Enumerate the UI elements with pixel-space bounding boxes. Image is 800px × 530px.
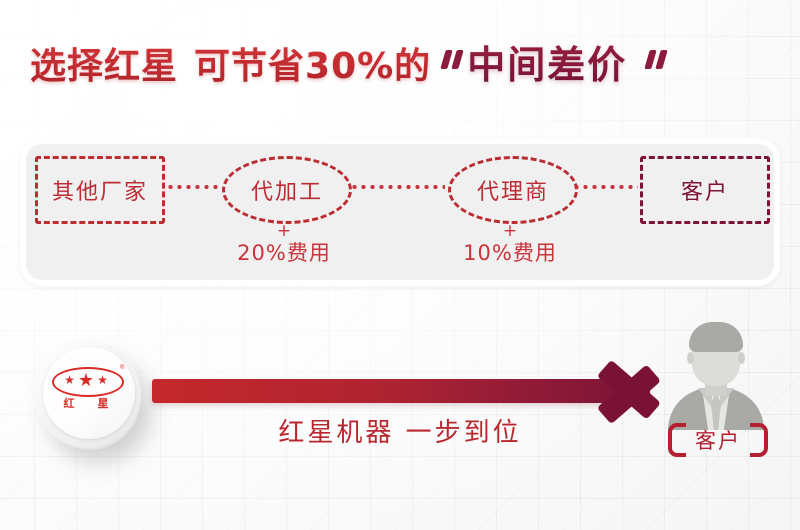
fee-plus-sign: + [214, 222, 354, 241]
poster-canvas: 选择红星 可节省30%的 中间差价 其他厂家 代加工 代理商 客户 + 20%费… [0, 0, 800, 530]
fee-markup-agent: + 10%费用 [440, 222, 580, 266]
logo-wordmark: 红 星 [52, 395, 120, 411]
headline-part2: 可节省30%的 [194, 37, 431, 89]
flow-node-label: 代理商 [477, 174, 549, 206]
star-icon: ★ [78, 371, 94, 389]
flow-node-label: 客户 [681, 174, 729, 206]
customer-badge-label: 客户 [695, 425, 741, 455]
avatar-ear-right [738, 352, 745, 364]
flow-node-other-factory: 其他厂家 [35, 156, 165, 224]
logo-word-hong: 红 [64, 395, 75, 411]
customer-avatar [662, 318, 770, 426]
flow-node-customer: 客户 [640, 156, 770, 224]
flow-node-label: 其他厂家 [52, 174, 148, 206]
bracket-right-icon [750, 423, 768, 457]
hongxing-logo: ★ ★ ★ ® 红 星 [33, 340, 145, 452]
star-icon: ★ [64, 374, 75, 386]
supply-chain-panel: 其他厂家 代加工 代理商 客户 + 20%费用 + 10%费用 [20, 138, 780, 286]
flow-connector-3 [572, 185, 638, 189]
fee-markup-oem: + 20%费用 [214, 222, 354, 266]
fee-amount: 20%费用 [214, 242, 354, 266]
logo-word-xing: 星 [98, 395, 109, 411]
logo-face: ★ ★ ★ ® 红 星 [43, 347, 135, 439]
fee-plus-sign: + [440, 222, 580, 241]
headline-highlight: 中间差价 [467, 34, 627, 89]
flow-node-agent: 代理商 [448, 156, 578, 224]
logo-stars-icon: ★ ★ ★ [52, 369, 120, 391]
registered-trademark-icon: ® [120, 365, 124, 371]
open-quote-icon [439, 48, 465, 78]
logo-mark: ★ ★ ★ ® 红 星 [50, 365, 128, 421]
direct-arrow-shaft [152, 379, 650, 403]
fee-amount: 10%费用 [440, 242, 580, 266]
avatar-hair [689, 322, 743, 352]
flow-node-label: 代加工 [251, 174, 323, 206]
arrow-tagline: 红星机器 一步到位 [180, 412, 620, 449]
avatar-ear-left [687, 352, 694, 364]
flow-node-oem: 代加工 [222, 156, 352, 224]
star-icon: ★ [97, 374, 108, 386]
flow-connector-1 [166, 185, 218, 189]
headline: 选择红星 可节省30%的 中间差价 [30, 34, 669, 89]
flow-connector-2 [350, 185, 445, 189]
bracket-left-icon [668, 423, 686, 457]
close-quote-icon [643, 48, 669, 78]
headline-part1: 选择红星 [30, 37, 178, 89]
customer-badge: 客户 [652, 424, 784, 456]
